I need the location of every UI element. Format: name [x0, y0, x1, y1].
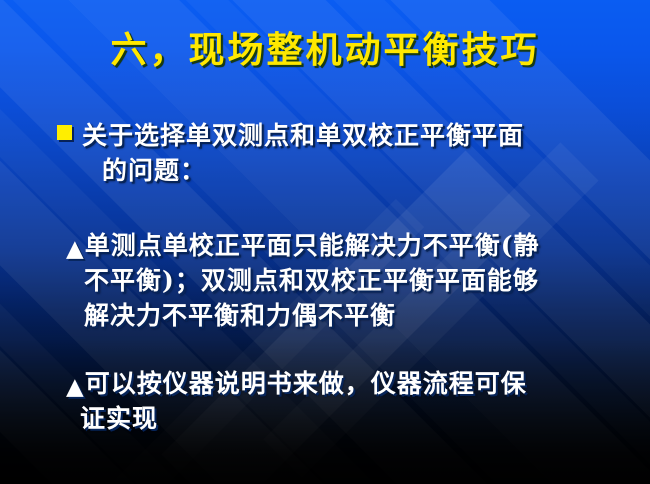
- bullet-line: 单测点单校正平面只能解决力不平衡(静: [85, 231, 540, 260]
- triangle-bullet-icon: ▲: [66, 375, 85, 398]
- bullet-line: 的问题：: [83, 153, 650, 188]
- bullet-line: 可以按仪器说明书来做，仪器流程可保: [85, 369, 527, 398]
- bullet-block-triangle-2: ▲可以按仪器说明书来做，仪器流程可保 证实现: [66, 366, 646, 436]
- bullet-line: 解决力不平衡和力偶不平衡: [66, 298, 646, 333]
- bullet-line: 证实现: [66, 401, 646, 436]
- triangle-line-1: ▲可以按仪器说明书来做，仪器流程可保: [66, 366, 646, 401]
- slide-title: 六，现场整机动平衡技巧: [0, 30, 650, 71]
- bullet-line: 不平衡)；双测点和双校正平衡平面能够: [66, 263, 646, 298]
- bullet-block-triangle-1: ▲单测点单校正平面只能解决力不平衡(静 不平衡)；双测点和双校正平衡平面能够 解…: [66, 228, 646, 333]
- square-bullet-icon: [57, 125, 72, 140]
- triangle-bullet-icon: ▲: [66, 237, 85, 260]
- bullet-block-square: 关于选择单双测点和单双校正平衡平面 的问题：: [57, 118, 650, 188]
- presentation-slide: 六，现场整机动平衡技巧 关于选择单双测点和单双校正平衡平面 的问题： ▲单测点单…: [0, 0, 650, 484]
- bullet-line: 关于选择单双测点和单双校正平衡平面: [83, 118, 650, 153]
- triangle-line-1: ▲单测点单校正平面只能解决力不平衡(静: [66, 228, 646, 263]
